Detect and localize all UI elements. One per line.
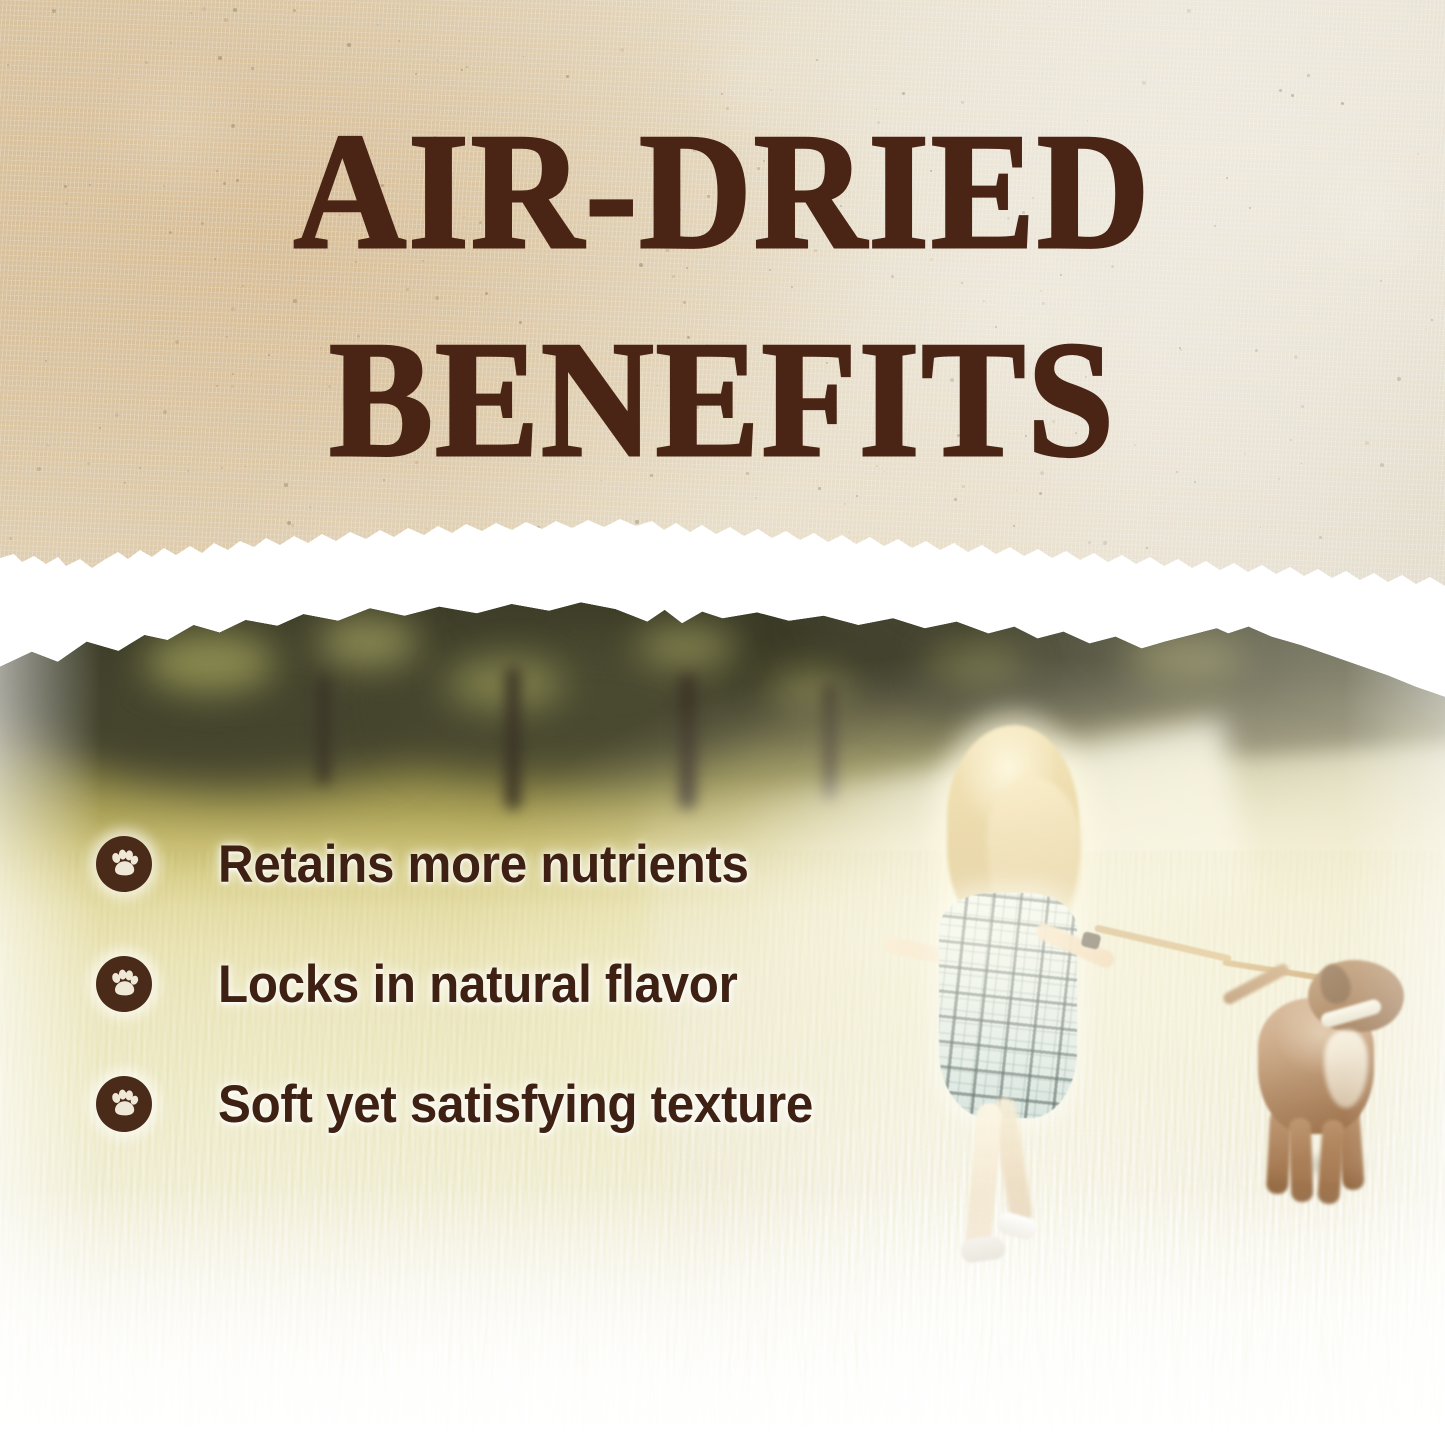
canopy-highlight bbox=[636, 625, 737, 667]
list-item-label: Locks in natural flavor bbox=[218, 958, 737, 1011]
dog-leg bbox=[1289, 1118, 1314, 1203]
product-benefits-infographic: AIR-DRIED BENEFITS bbox=[0, 0, 1445, 1436]
paw-icon bbox=[96, 836, 152, 892]
paw-icon bbox=[96, 956, 152, 1012]
canopy-highlight bbox=[318, 617, 419, 667]
tree-trunk bbox=[824, 684, 836, 801]
list-item-label: Retains more nutrients bbox=[218, 838, 749, 891]
dog-figure bbox=[1228, 960, 1428, 1230]
dog-leg bbox=[1317, 1119, 1345, 1204]
canopy-highlight bbox=[1127, 633, 1243, 683]
kraft-paper-panel: AIR-DRIED BENEFITS bbox=[0, 0, 1445, 640]
canopy-highlight bbox=[766, 667, 853, 709]
benefits-list: Retains more nutrients Locks in natural … bbox=[96, 804, 1096, 1164]
tree-trunk bbox=[318, 675, 329, 784]
dog-tail bbox=[1221, 962, 1290, 1006]
list-item: Soft yet satisfying texture bbox=[96, 1044, 1096, 1164]
woman-back-shoe bbox=[995, 1210, 1040, 1242]
tree-trunk bbox=[679, 675, 696, 809]
heading-line-benefits: BENEFITS bbox=[43, 316, 1401, 482]
canopy-highlight bbox=[145, 633, 275, 692]
list-item-label: Soft yet satisfying texture bbox=[218, 1078, 813, 1131]
heading-line-air-dried: AIR-DRIED bbox=[43, 108, 1401, 274]
paw-icon bbox=[96, 1076, 152, 1132]
list-item: Retains more nutrients bbox=[96, 804, 1096, 924]
canopy-highlight bbox=[925, 642, 1026, 684]
tree-trunk bbox=[506, 667, 520, 809]
list-item: Locks in natural flavor bbox=[96, 924, 1096, 1044]
